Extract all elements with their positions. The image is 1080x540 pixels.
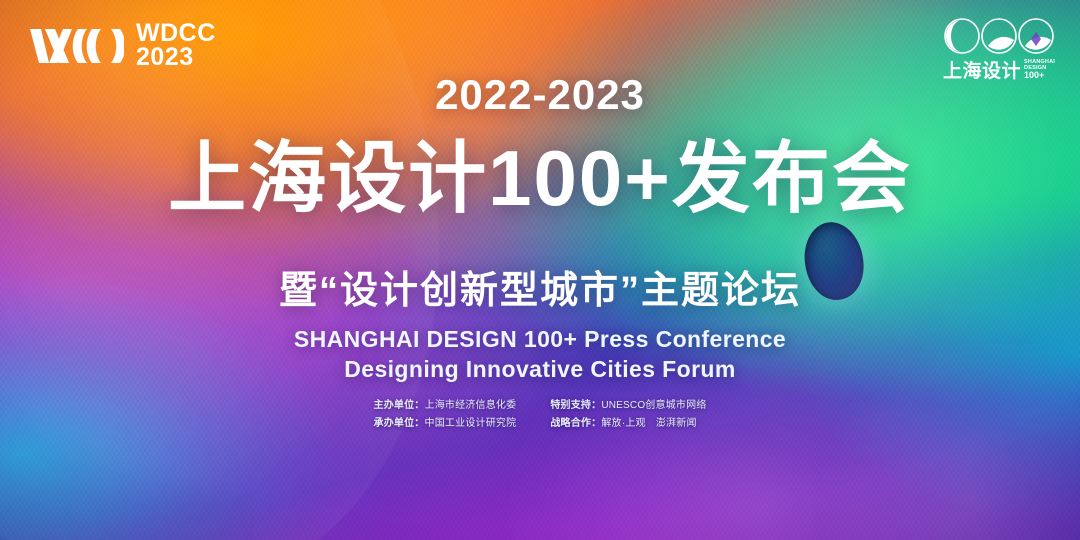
credit-label: 主办单位： <box>374 400 425 411</box>
wdcc-wordmark: WDCC 2023 <box>136 22 216 70</box>
credits-right-column: 特别支持：UNESCO创意城市网络 战略合作：解放·上观 澎湃新闻 <box>550 398 706 431</box>
credit-row: 承办单位：中国工业设计研究院 <box>374 416 517 432</box>
credits-left-column: 主办单位：上海市经济信息化委 承办单位：中国工业设计研究院 <box>374 398 517 431</box>
credit-value: 中国工业设计研究院 <box>425 418 517 429</box>
credits-block: 主办单位：上海市经济信息化委 承办单位：中国工业设计研究院 特别支持：UNESC… <box>0 398 1080 431</box>
shanghai-design-logo-lockup: 上海设计 SHANGHAI DESIGN 100+ <box>940 16 1058 81</box>
poster-content: WDCC 2023 上海设计 <box>0 0 1080 540</box>
subtitle-english-line1: SHANGHAI DESIGN 100+ Press Conference <box>294 326 786 352</box>
credit-row: 主办单位：上海市经济信息化委 <box>374 398 517 414</box>
shanghai-design-three-circles-icon <box>943 16 1055 56</box>
credit-value: 上海市经济信息化委 <box>425 400 517 411</box>
credit-label: 战略合作： <box>550 418 601 429</box>
credit-row: 特别支持：UNESCO创意城市网络 <box>550 398 706 414</box>
event-year-range: 2022-2023 <box>0 74 1080 116</box>
subtitle-english-line2: Designing Innovative Cities Forum <box>0 355 1080 385</box>
title-block: 2022-2023 上海设计100+发布会 暨“设计创新型城市”主题论坛 SHA… <box>0 74 1080 385</box>
poster-key-visual: WDCC 2023 上海设计 <box>0 0 1080 540</box>
credit-value: UNESCO创意城市网络 <box>601 400 706 411</box>
wdcc-year: 2023 <box>136 46 216 70</box>
subtitle-chinese: 暨“设计创新型城市”主题论坛 <box>0 271 1080 313</box>
credit-value: 解放·上观 澎湃新闻 <box>601 418 696 429</box>
wdcc-w-monogram-icon <box>28 26 124 66</box>
credit-row: 战略合作：解放·上观 澎湃新闻 <box>550 416 706 432</box>
subtitle-english: SHANGHAI DESIGN 100+ Press Conference De… <box>0 325 1080 385</box>
wdcc-logo-lockup: WDCC 2023 <box>28 22 216 70</box>
credit-label: 特别支持： <box>550 400 601 411</box>
credit-label: 承办单位： <box>374 418 425 429</box>
page-title: 上海设计100+发布会 <box>0 138 1080 219</box>
